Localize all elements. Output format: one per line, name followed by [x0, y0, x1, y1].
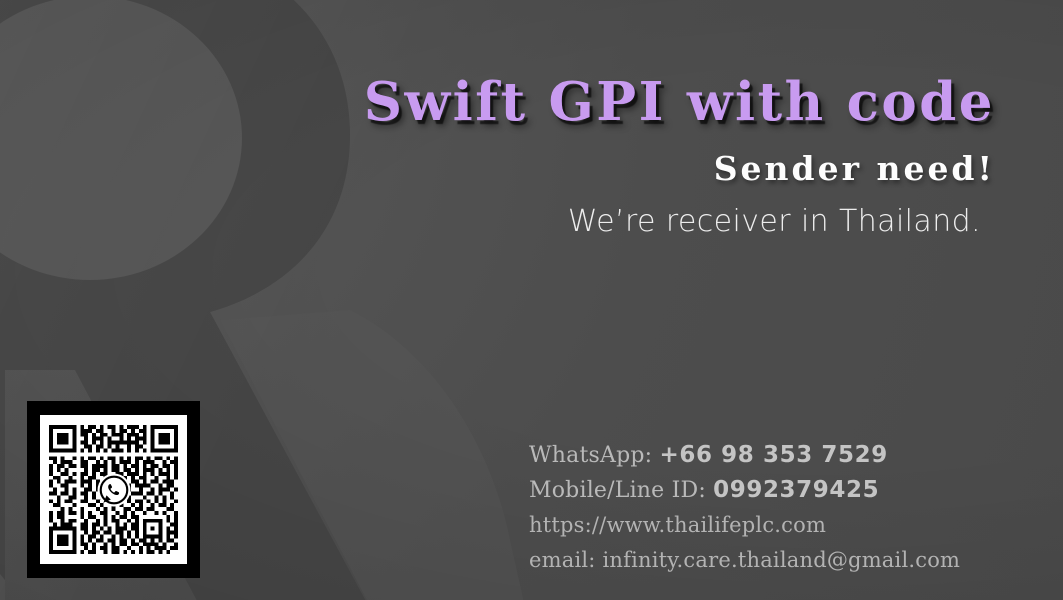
page-title: Swift GPI with code — [0, 0, 995, 129]
website-link[interactable]: https://www.thailifeplc.com — [529, 508, 999, 543]
tagline: We’re receiver in Thailand. — [0, 185, 995, 237]
whatsapp-label: WhatsApp: — [529, 443, 652, 468]
business-card: Swift GPI with code Sender need! We’re r… — [0, 0, 1063, 600]
contact-line-email: email: infinity.care.thailand@gmail.com — [529, 543, 999, 578]
whatsapp-number[interactable]: +66 98 353 7529 — [660, 442, 888, 468]
email-address[interactable]: infinity.care.thailand@gmail.com — [602, 548, 960, 572]
contact-line-mobile-line-id: Mobile/Line ID: 0992379425 — [529, 473, 999, 508]
mobile-line-id-number[interactable]: 0992379425 — [713, 477, 879, 503]
headline-block: Swift GPI with code Sender need! We’re r… — [0, 0, 1063, 237]
qr-code[interactable] — [27, 401, 200, 578]
contact-line-whatsapp: WhatsApp: +66 98 353 7529 — [529, 438, 999, 473]
whatsapp-logo-icon — [97, 473, 131, 507]
mobile-line-id-label: Mobile/Line ID: — [529, 478, 706, 503]
email-label: email: — [529, 548, 596, 572]
qr-code-modules — [40, 415, 187, 564]
subtitle: Sender need! — [0, 129, 995, 185]
contact-block: WhatsApp: +66 98 353 7529 Mobile/Line ID… — [529, 438, 999, 578]
